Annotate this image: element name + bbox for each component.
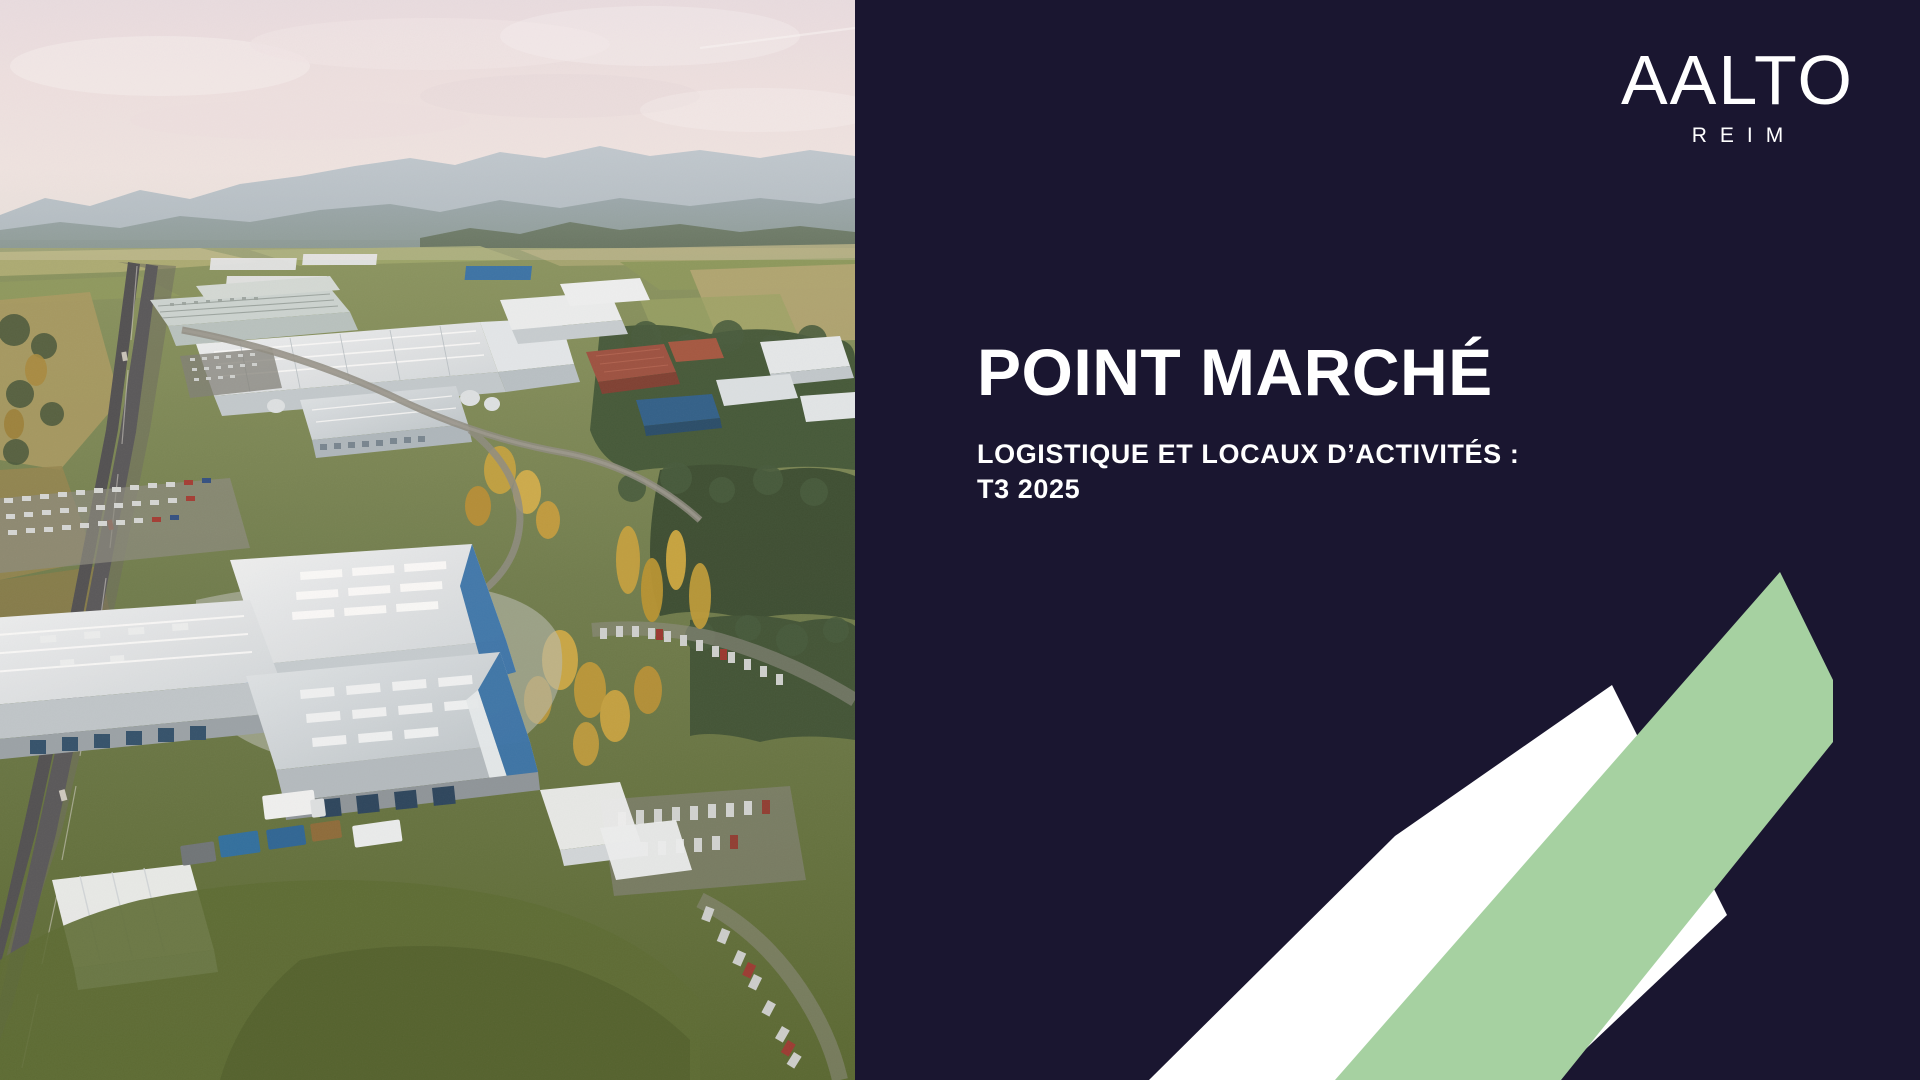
aerial-photo-graphic: [0, 0, 855, 1080]
brand-logo: AALTO REIM: [1621, 47, 1854, 146]
title-slide: AALTO REIM POINT MARCHÉ LOGISTIQUE ET LO…: [0, 0, 1920, 1080]
title-block: POINT MARCHÉ LOGISTIQUE ET LOCAUX D’ACTI…: [977, 338, 1777, 506]
logo-subtitle: REIM: [1621, 125, 1854, 146]
chevron-stripe-white: [1149, 685, 1727, 1080]
logo-wordmark: AALTO: [1621, 47, 1854, 114]
subtitle-line-1: LOGISTIQUE ET LOCAUX D’ACTIVITÉS :: [977, 439, 1519, 469]
content-panel: AALTO REIM POINT MARCHÉ LOGISTIQUE ET LO…: [855, 0, 1920, 1080]
decorative-chevrons: [855, 0, 1920, 1080]
page-subtitle: LOGISTIQUE ET LOCAUX D’ACTIVITÉS : T3 20…: [977, 437, 1777, 506]
page-title: POINT MARCHÉ: [977, 338, 1777, 407]
chevron-stripe-green: [1335, 572, 1833, 1080]
subtitle-line-2: T3 2025: [977, 474, 1080, 504]
aerial-photo: [0, 0, 855, 1080]
